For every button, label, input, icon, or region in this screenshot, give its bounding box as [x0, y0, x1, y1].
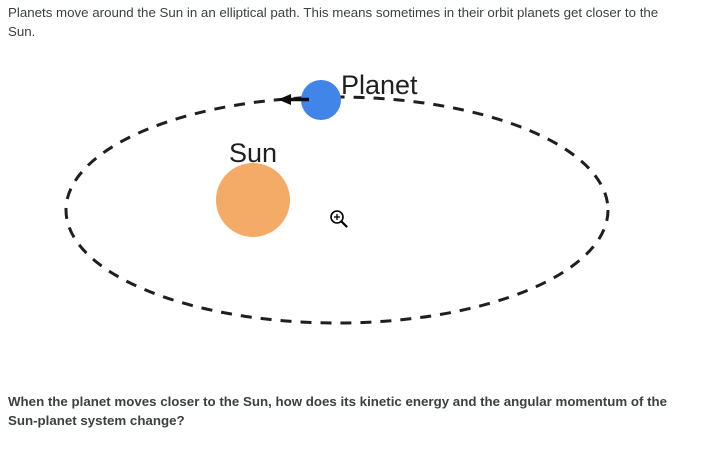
planet-label: Planet: [341, 70, 418, 100]
sun-circle: [216, 163, 290, 237]
intro-paragraph: Planets move around the Sun in an ellipt…: [8, 3, 668, 41]
orbit-diagram-canvas: Sun Planet: [0, 45, 724, 375]
orbit-ellipse-path: [66, 97, 608, 323]
orbit-diagram: Sun Planet: [0, 45, 724, 375]
sun-label: Sun: [229, 138, 277, 168]
question-prompt: When the planet moves closer to the Sun,…: [8, 392, 668, 430]
